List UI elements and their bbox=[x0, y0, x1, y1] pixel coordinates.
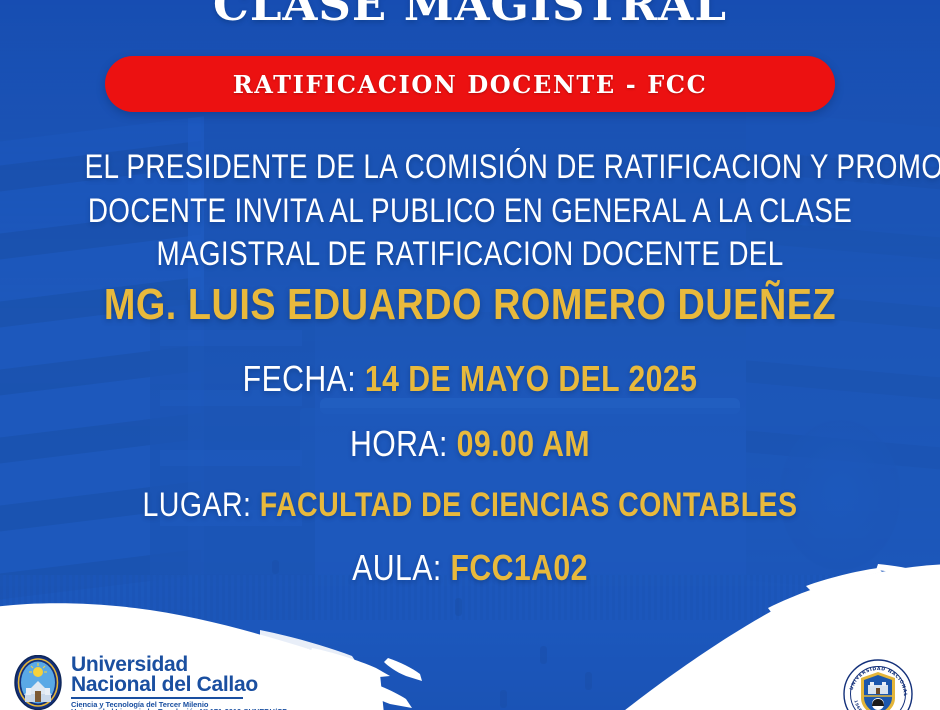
detail-lugar-value: FACULTAD DE CIENCIAS CONTABLES bbox=[260, 486, 798, 524]
detail-hora: HORA: 09.00 AM bbox=[75, 423, 865, 465]
unac-oval-seal-icon bbox=[14, 655, 62, 710]
detail-lugar-label: LUGAR: bbox=[142, 486, 251, 524]
wordmark-rule bbox=[71, 697, 243, 699]
detail-aula: AULA: FCC1A02 bbox=[75, 547, 865, 589]
detail-lugar: LUGAR: FACULTAD DE CIENCIAS CONTABLES bbox=[75, 486, 865, 525]
detail-fecha-value: 14 DE MAYO DEL 2025 bbox=[365, 358, 697, 399]
invitation-line-2: DOCENTE INVITA AL PUBLICO EN GENERAL A L… bbox=[85, 190, 856, 234]
university-line-2: Nacional del Callao bbox=[71, 675, 288, 695]
detail-aula-label: AULA: bbox=[352, 547, 441, 588]
detail-aula-value: FCC1A02 bbox=[450, 547, 587, 588]
invitation-line-3: MAGISTRAL DE RATIFICACION DOCENTE DEL bbox=[85, 233, 856, 277]
status-badge: RATIFICACION DOCENTE - FCC bbox=[105, 56, 835, 112]
speaker-name: MG. LUIS EDUARDO ROMERO DUEÑEZ bbox=[66, 280, 874, 330]
invitation-paragraph: EL PRESIDENTE DE LA COMISIÓN DE RATIFICA… bbox=[85, 146, 856, 277]
poster-root: CLASE MAGISTRAL RATIFICACION DOCENTE - F… bbox=[0, 0, 940, 710]
university-wordmark: Universidad Nacional del Callao Ciencia … bbox=[71, 655, 288, 710]
detail-fecha: FECHA: 14 DE MAYO DEL 2025 bbox=[75, 358, 865, 400]
university-logo-lockup: Universidad Nacional del Callao Ciencia … bbox=[14, 655, 288, 710]
unac-circular-seal-icon: UNIVERSIDAD NACIONAL DEL CALLAO 1966 bbox=[842, 658, 914, 710]
poster-content: CLASE MAGISTRAL RATIFICACION DOCENTE - F… bbox=[0, 0, 940, 710]
invitation-line-1: EL PRESIDENTE DE LA COMISIÓN DE RATIFICA… bbox=[85, 146, 856, 190]
detail-hora-label: HORA: bbox=[350, 423, 448, 464]
page-title: CLASE MAGISTRAL bbox=[0, 0, 940, 27]
detail-hora-value: 09.00 AM bbox=[457, 423, 590, 464]
status-badge-label: RATIFICACION DOCENTE - FCC bbox=[233, 70, 708, 99]
university-line-1: Universidad bbox=[71, 655, 288, 675]
detail-fecha-label: FECHA: bbox=[243, 358, 356, 399]
